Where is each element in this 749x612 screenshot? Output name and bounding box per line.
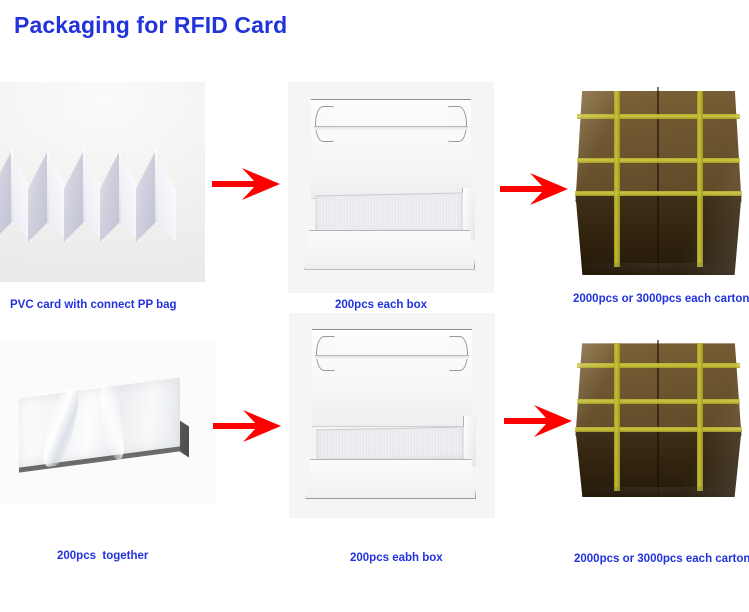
pp-bag-fold <box>28 150 68 242</box>
shrink-wrapped-card-stack-photo <box>0 340 215 505</box>
box-lid-ear-left <box>316 336 335 371</box>
carton-shadow <box>577 263 740 275</box>
carton-strap <box>614 91 620 268</box>
box-lid-ear-left <box>315 106 334 142</box>
carton-strap <box>577 363 740 368</box>
caption-step1: 200pcs together <box>57 549 148 563</box>
caption-step3: 2000pcs or 3000pcs each carton <box>573 292 749 306</box>
arrow-right-icon <box>212 167 282 201</box>
pp-bag-fold <box>100 150 140 242</box>
box-lid-ear-right <box>449 336 468 371</box>
box-front-panel <box>305 459 476 500</box>
open-white-box-photo <box>289 313 495 518</box>
carton-strap <box>577 158 740 163</box>
caption-step2: 200pcs eabh box <box>350 551 443 565</box>
caption-step1: PVC card with connect PP bag <box>10 298 177 312</box>
open-white-box-photo <box>288 82 494 293</box>
arrow-right-icon <box>213 409 283 443</box>
carton-strap <box>697 91 703 268</box>
carton-strap <box>614 343 620 490</box>
carton-stack <box>572 83 745 275</box>
pp-bag-accordion-photo <box>0 82 205 282</box>
carton-strap <box>697 343 703 490</box>
pp-bag-fold <box>64 150 104 242</box>
page-title: Packaging for RFID Card <box>14 12 287 39</box>
pp-bag-fold <box>136 150 176 242</box>
carton-strap <box>575 191 741 196</box>
caption-step3: 2000pcs or 3000pcs each carton <box>574 552 749 566</box>
brown-cartons-photo <box>572 337 745 497</box>
caption-step2: 200pcs each box <box>335 298 427 312</box>
carton-strap <box>577 399 740 404</box>
carton-shadow <box>577 487 740 497</box>
carton-stack <box>572 337 745 497</box>
box-lid-ear-right <box>448 106 467 142</box>
arrow-right-icon <box>500 172 570 206</box>
arrow-right-icon <box>504 404 574 438</box>
box-lid <box>311 99 472 199</box>
box-lid <box>312 329 473 426</box>
box-front-panel <box>304 230 475 270</box>
carton-strap <box>575 427 741 432</box>
brown-cartons-photo <box>572 83 745 275</box>
carton-strap <box>577 114 740 119</box>
